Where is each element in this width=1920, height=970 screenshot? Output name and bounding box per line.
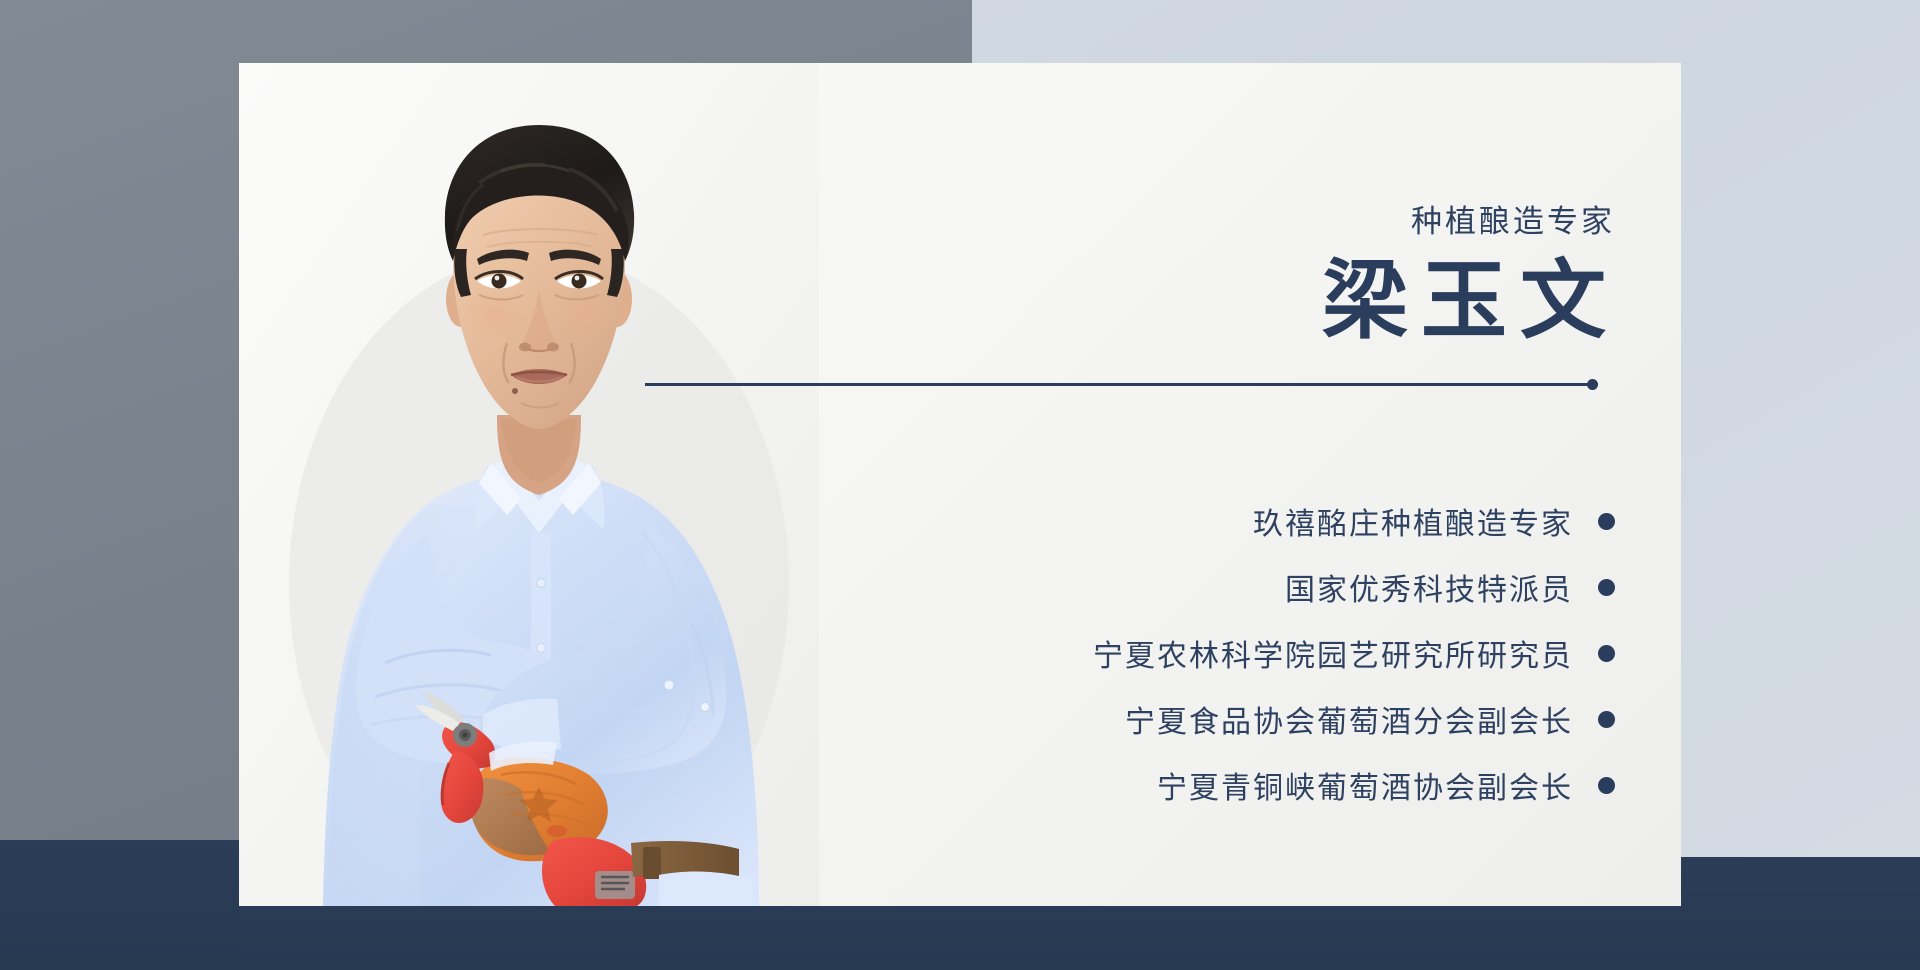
- expert-profile-card: 种植酿造专家 梁玉文 玖禧酩庄种植酿造专家 国家优秀科技特派员 宁夏农林科学院园…: [239, 63, 1681, 906]
- credential-item: 宁夏食品协会葡萄酒分会副会长: [715, 686, 1615, 752]
- bullet-dot-icon: [1598, 645, 1615, 662]
- credential-item: 玖禧酩庄种植酿造专家: [715, 488, 1615, 554]
- bullet-dot-icon: [1598, 513, 1615, 530]
- credential-item: 国家优秀科技特派员: [715, 554, 1615, 620]
- bullet-dot-icon: [1598, 777, 1615, 794]
- credential-item: 宁夏农林科学院园艺研究所研究员: [715, 620, 1615, 686]
- credential-text: 宁夏青铜峡葡萄酒协会副会长: [1157, 763, 1573, 807]
- credential-text: 玖禧酩庄种植酿造专家: [1253, 499, 1573, 543]
- expert-name: 梁玉文: [1322, 258, 1619, 344]
- poster-stage: 种植酿造专家 梁玉文 玖禧酩庄种植酿造专家 国家优秀科技特派员 宁夏农林科学院园…: [0, 0, 1920, 970]
- credential-text: 宁夏食品协会葡萄酒分会副会长: [1125, 697, 1573, 741]
- credential-item: 宁夏青铜峡葡萄酒协会副会长: [715, 752, 1615, 818]
- credential-text: 宁夏农林科学院园艺研究所研究员: [1093, 631, 1573, 675]
- background-navy-left-block: [0, 840, 240, 970]
- bullet-dot-icon: [1598, 579, 1615, 596]
- bullet-dot-icon: [1598, 711, 1615, 728]
- credential-list: 玖禧酩庄种植酿造专家 国家优秀科技特派员 宁夏农林科学院园艺研究所研究员 宁夏食…: [715, 488, 1615, 818]
- expert-subtitle: 种植酿造专家: [1411, 196, 1615, 241]
- credential-text: 国家优秀科技特派员: [1285, 565, 1573, 609]
